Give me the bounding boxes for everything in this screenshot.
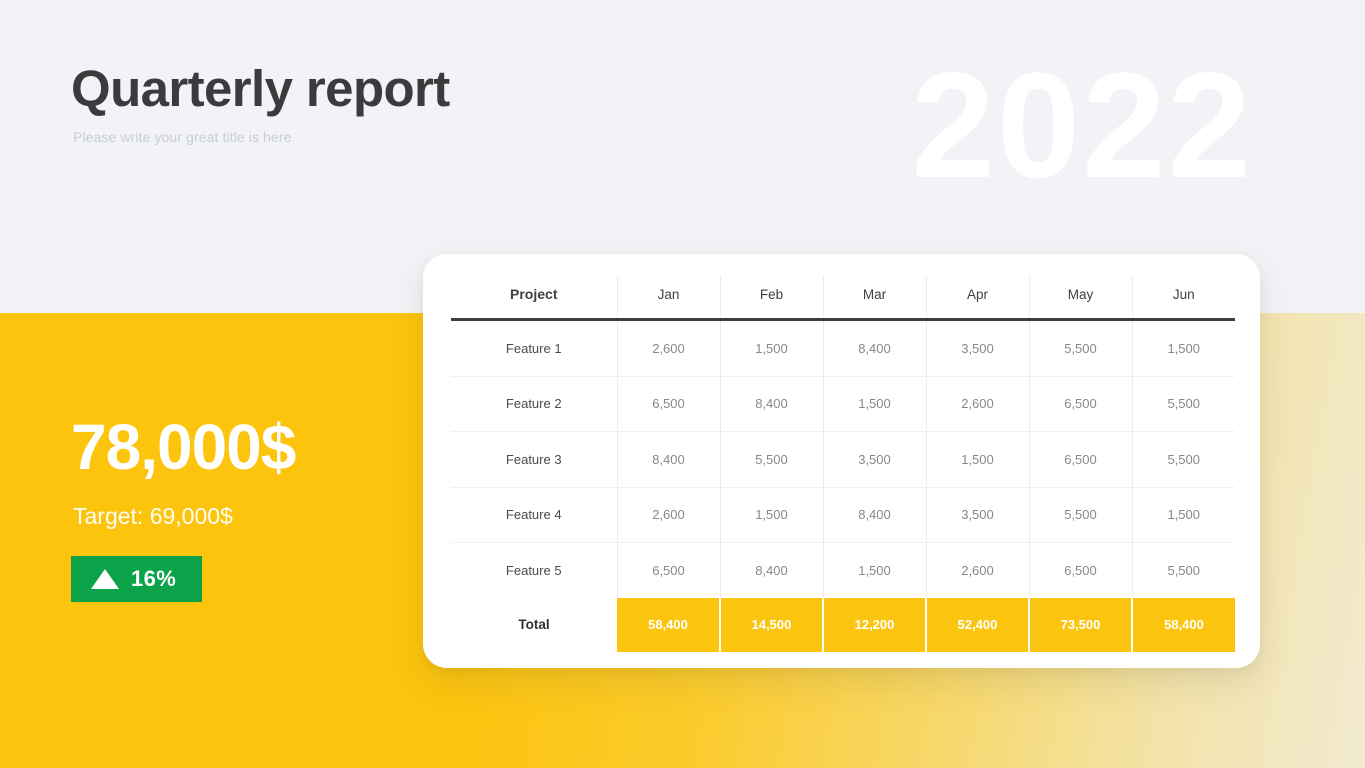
table-row: Feature 2 6,500 8,400 1,500 2,600 6,500 … xyxy=(451,376,1235,432)
cell-value: 5,500 xyxy=(1132,376,1235,432)
row-label: Feature 2 xyxy=(451,376,617,432)
cell-value: 5,500 xyxy=(720,432,823,488)
column-header-jun: Jun xyxy=(1132,276,1235,320)
total-label: Total xyxy=(451,598,617,652)
total-cell-value: 14,500 xyxy=(720,598,823,652)
cell-value: 2,600 xyxy=(617,320,720,377)
column-header-feb: Feb xyxy=(720,276,823,320)
cell-value: 6,500 xyxy=(617,543,720,598)
table-row: Feature 3 8,400 5,500 3,500 1,500 6,500 … xyxy=(451,432,1235,488)
table-row: Feature 5 6,500 8,400 1,500 2,600 6,500 … xyxy=(451,543,1235,598)
kpi-change-percent: 16% xyxy=(131,566,176,592)
cell-value: 3,500 xyxy=(823,432,926,488)
year-watermark: 2022 xyxy=(911,50,1253,200)
cell-value: 5,500 xyxy=(1029,320,1132,377)
cell-value: 1,500 xyxy=(720,320,823,377)
cell-value: 1,500 xyxy=(823,376,926,432)
cell-value: 1,500 xyxy=(926,432,1029,488)
cell-value: 3,500 xyxy=(926,487,1029,543)
total-cell-value: 12,200 xyxy=(823,598,926,652)
cell-value: 8,400 xyxy=(720,376,823,432)
cell-value: 8,400 xyxy=(720,543,823,598)
row-label: Feature 5 xyxy=(451,543,617,598)
total-cell-value: 58,400 xyxy=(1132,598,1235,652)
slide-canvas: 2022 Quarterly report Please write your … xyxy=(0,0,1365,768)
cell-value: 8,400 xyxy=(823,487,926,543)
column-header-project: Project xyxy=(451,276,617,320)
triangle-up-icon xyxy=(91,569,119,589)
column-header-apr: Apr xyxy=(926,276,1029,320)
row-label: Feature 1 xyxy=(451,320,617,377)
page-title: Quarterly report xyxy=(71,60,450,119)
slide-header: Quarterly report Please write your great… xyxy=(71,60,450,145)
kpi-change-badge: 16% xyxy=(71,556,202,602)
cell-value: 1,500 xyxy=(720,487,823,543)
table-header-row: Project Jan Feb Mar Apr May Jun xyxy=(451,276,1235,320)
page-subtitle: Please write your great title is here xyxy=(73,129,450,145)
cell-value: 8,400 xyxy=(617,432,720,488)
table-row: Feature 1 2,600 1,500 8,400 3,500 5,500 … xyxy=(451,320,1235,377)
cell-value: 5,500 xyxy=(1132,432,1235,488)
cell-value: 6,500 xyxy=(617,376,720,432)
cell-value: 1,500 xyxy=(823,543,926,598)
report-table: Project Jan Feb Mar Apr May Jun Feature … xyxy=(451,276,1235,652)
cell-value: 5,500 xyxy=(1029,487,1132,543)
total-cell-value: 52,400 xyxy=(926,598,1029,652)
cell-value: 6,500 xyxy=(1029,432,1132,488)
cell-value: 3,500 xyxy=(926,320,1029,377)
cell-value: 1,500 xyxy=(1132,487,1235,543)
total-cell-value: 58,400 xyxy=(617,598,720,652)
cell-value: 2,600 xyxy=(926,376,1029,432)
cell-value: 1,500 xyxy=(1132,320,1235,377)
cell-value: 6,500 xyxy=(1029,543,1132,598)
table-row: Feature 4 2,600 1,500 8,400 3,500 5,500 … xyxy=(451,487,1235,543)
cell-value: 8,400 xyxy=(823,320,926,377)
row-label: Feature 3 xyxy=(451,432,617,488)
cell-value: 6,500 xyxy=(1029,376,1132,432)
column-header-mar: Mar xyxy=(823,276,926,320)
table-total-row: Total 58,400 14,500 12,200 52,400 73,500… xyxy=(451,598,1235,652)
column-header-may: May xyxy=(1029,276,1132,320)
row-label: Feature 4 xyxy=(451,487,617,543)
cell-value: 2,600 xyxy=(617,487,720,543)
cell-value: 2,600 xyxy=(926,543,1029,598)
column-header-jan: Jan xyxy=(617,276,720,320)
report-table-card: Project Jan Feb Mar Apr May Jun Feature … xyxy=(423,254,1260,668)
total-cell-value: 73,500 xyxy=(1029,598,1132,652)
cell-value: 5,500 xyxy=(1132,543,1235,598)
